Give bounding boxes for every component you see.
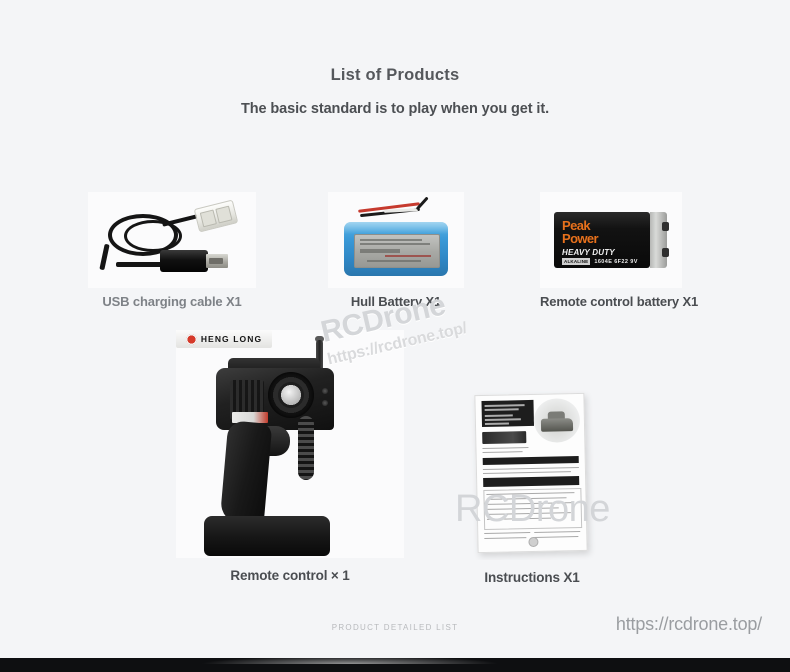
- usb-cable-illustration: [88, 192, 256, 288]
- battery-code-row: ALKALINE 1604E 6F22 9V: [562, 258, 638, 265]
- remote-control-illustration: HENG LONG: [176, 330, 404, 558]
- product-list-page: List of Products The basic standard is t…: [0, 0, 790, 672]
- manual-product-logo: [482, 431, 526, 444]
- footer-site-url: https://rcdrone.top/: [616, 614, 762, 635]
- brand-plate-text: HENG LONG: [201, 334, 262, 344]
- battery-chemistry-chip: ALKALINE: [562, 258, 590, 265]
- battery-tagline: HEAVY DUTY: [562, 248, 615, 257]
- battery-terminal-bottom: [662, 248, 669, 257]
- battery-terminal-top: [662, 222, 669, 231]
- hull-battery-illustration: [328, 192, 464, 288]
- usb-plug-housing: [160, 250, 208, 272]
- pistol-grip: [220, 420, 273, 525]
- page-title: List of Products: [0, 66, 790, 85]
- nine-volt-battery-illustration: Peak Power HEAVY DUTY ALKALINE 1604E 6F2…: [540, 192, 682, 288]
- remote-control-image: HENG LONG: [176, 330, 404, 558]
- tamiya-connector: [194, 200, 239, 233]
- page-subtitle: The basic standard is to play when you g…: [0, 101, 790, 117]
- product-item-usb-charging-cable: USB charging cable X1: [88, 192, 256, 309]
- product-item-instructions: Instructions X1: [462, 388, 602, 585]
- brand-plate: HENG LONG: [176, 330, 272, 348]
- battery-front-face: Peak Power HEAVY DUTY ALKALINE 1604E 6F2…: [554, 212, 650, 268]
- manual-header-block: [481, 400, 534, 427]
- instruction-manual-illustration: [474, 393, 587, 553]
- battery-code-text: 1604E 6F22 9V: [594, 259, 637, 265]
- usb-charging-cable-image: [88, 192, 256, 288]
- bottom-edge-band: [0, 658, 790, 672]
- remote-control-battery-image: Peak Power HEAVY DUTY ALKALINE 1604E 6F2…: [540, 192, 682, 288]
- battery-cell-body: [344, 222, 448, 276]
- usb-plug-contact: [206, 254, 228, 268]
- bottom-edge-highlight: [200, 656, 500, 664]
- product-caption: Remote control battery X1: [540, 294, 682, 309]
- product-item-hull-battery: Hull Battery X1: [328, 192, 464, 309]
- product-item-remote-control-battery: Peak Power HEAVY DUTY ALKALINE 1604E 6F2…: [540, 192, 682, 309]
- cable-loop-inner: [124, 220, 182, 252]
- product-caption: Instructions X1: [462, 570, 602, 585]
- product-caption: Remote control × 1: [176, 568, 404, 583]
- cable-tail: [99, 244, 109, 270]
- transmitter-button-a[interactable]: [322, 388, 328, 394]
- product-caption: USB charging cable X1: [88, 294, 256, 309]
- steering-tension-spring: [298, 416, 314, 480]
- manual-warning-bar-top: [483, 456, 579, 465]
- battery-brand-text: Peak Power: [562, 220, 598, 245]
- instructions-image: [462, 388, 602, 560]
- product-item-remote-control: HENG LONG Remote control × 1: [176, 330, 404, 583]
- battery-brand-line2: Power: [562, 233, 598, 246]
- hull-battery-image: [328, 192, 464, 288]
- manual-tank-photo: [533, 398, 580, 443]
- manual-page-marker: [528, 537, 538, 547]
- transmitter-button-b[interactable]: [322, 400, 328, 406]
- manual-warning-bar-main: [483, 476, 579, 487]
- product-caption: Hull Battery X1: [328, 294, 464, 309]
- battery-base: [204, 516, 330, 556]
- heng-long-logo-icon: [186, 334, 197, 345]
- battery-spec-label: [354, 234, 440, 268]
- steering-wheel: [268, 372, 314, 418]
- battery-side-panel: [650, 212, 667, 268]
